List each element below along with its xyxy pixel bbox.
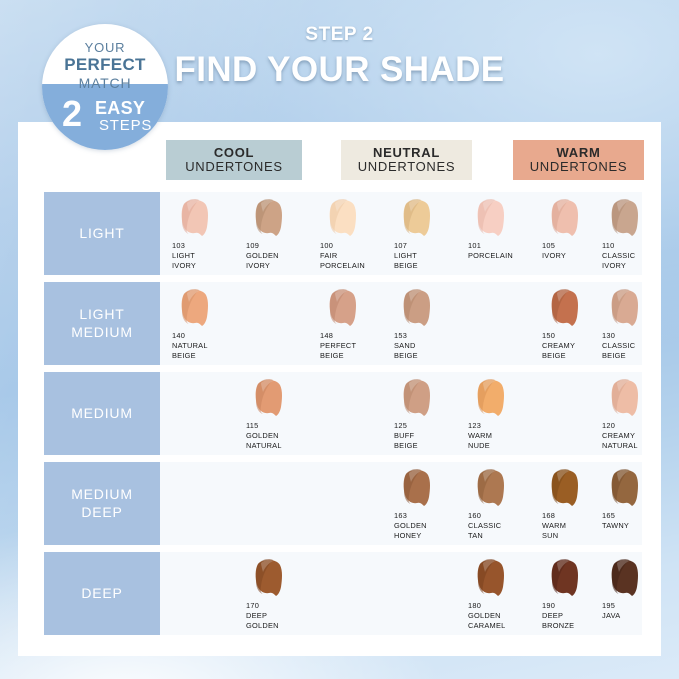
badge-your-label: YOUR <box>42 40 168 55</box>
shade-row: DEEP170 DEEP GOLDEN180 GOLDEN CARAMEL190… <box>18 552 661 635</box>
row-label-light-medium: LIGHT MEDIUM <box>44 282 160 365</box>
shade-cell-140[interactable]: 140 NATURAL BEIGE <box>168 282 238 365</box>
column-header-neutral: NEUTRAL UNDERTONES <box>341 140 472 180</box>
shade-row: LIGHT103 LIGHT IVORY109 GOLDEN IVORY100 … <box>18 192 661 275</box>
foundation-smear-icon <box>470 197 514 241</box>
foundation-smear-icon <box>544 557 588 601</box>
shade-cell-110[interactable]: 110 CLASSIC IVORY <box>598 192 668 275</box>
shade-cell-170[interactable]: 170 DEEP GOLDEN <box>242 552 312 635</box>
foundation-smear-icon <box>248 197 292 241</box>
shade-cell-107[interactable]: 107 LIGHT BEIGE <box>390 192 460 275</box>
foundation-smear-icon <box>248 377 292 421</box>
foundation-smear-icon <box>604 557 648 601</box>
shade-cell-125[interactable]: 125 BUFF BEIGE <box>390 372 460 455</box>
shade-caption: 163 GOLDEN HONEY <box>394 511 472 540</box>
shade-cell-163[interactable]: 163 GOLDEN HONEY <box>390 462 460 545</box>
foundation-smear-icon <box>470 467 514 511</box>
shade-caption: 100 FAIR PORCELAIN <box>320 241 398 270</box>
shade-caption: 123 WARM NUDE <box>468 421 546 450</box>
foundation-smear-icon <box>544 287 588 331</box>
column-header-cool-subtitle: UNDERTONES <box>185 160 283 174</box>
shade-caption: 170 DEEP GOLDEN <box>246 601 324 630</box>
shade-caption: 153 SAND BEIGE <box>394 331 472 360</box>
foundation-smear-icon <box>470 557 514 601</box>
foundation-smear-icon <box>396 467 440 511</box>
row-label-medium-deep: MEDIUM DEEP <box>44 462 160 545</box>
shade-cell-123[interactable]: 123 WARM NUDE <box>464 372 534 455</box>
shade-cell-165[interactable]: 165 TAWNY <box>598 462 668 545</box>
row-label-deep: DEEP <box>44 552 160 635</box>
shade-row: LIGHT MEDIUM140 NATURAL BEIGE148 PERFECT… <box>18 282 661 365</box>
shade-cell-120[interactable]: 120 CREAMY NATURAL <box>598 372 668 455</box>
foundation-smear-icon <box>544 467 588 511</box>
foundation-smear-icon <box>396 377 440 421</box>
shade-chart-card: COOL UNDERTONES NEUTRAL UNDERTONES WARM … <box>18 122 661 656</box>
foundation-smear-icon <box>470 377 514 421</box>
foundation-smear-icon <box>604 467 648 511</box>
shade-cell-195[interactable]: 195 JAVA <box>598 552 668 635</box>
badge-perfect-label: PERFECT <box>42 55 168 75</box>
foundation-smear-icon <box>544 197 588 241</box>
column-header-warm-subtitle: UNDERTONES <box>530 160 628 174</box>
shade-caption: 109 GOLDEN IVORY <box>246 241 324 270</box>
shade-caption: 130 CLASSIC BEIGE <box>602 331 679 360</box>
shade-row: MEDIUM DEEP163 GOLDEN HONEY160 CLASSIC T… <box>18 462 661 545</box>
shade-caption: 160 CLASSIC TAN <box>468 511 546 540</box>
shade-cell-100[interactable]: 100 FAIR PORCELAIN <box>316 192 386 275</box>
foundation-smear-icon <box>322 197 366 241</box>
shade-caption: 148 PERFECT BEIGE <box>320 331 398 360</box>
shade-caption: 107 LIGHT BEIGE <box>394 241 472 270</box>
column-header-cool-title: COOL <box>214 146 254 160</box>
shade-cell-180[interactable]: 180 GOLDEN CARAMEL <box>464 552 534 635</box>
shade-cell-101[interactable]: 101 PORCELAIN <box>464 192 534 275</box>
shade-caption: 140 NATURAL BEIGE <box>172 331 250 360</box>
shade-cell-160[interactable]: 160 CLASSIC TAN <box>464 462 534 545</box>
shade-caption: 115 GOLDEN NATURAL <box>246 421 324 450</box>
shade-caption: 165 TAWNY <box>602 511 679 531</box>
badge-match-label: MATCH <box>42 75 168 91</box>
badge-text: YOUR PERFECT MATCH 2 EASY STEPS <box>42 24 168 150</box>
foundation-smear-icon <box>322 287 366 331</box>
shade-caption: 195 JAVA <box>602 601 679 621</box>
foundation-smear-icon <box>604 197 648 241</box>
foundation-smear-icon <box>396 197 440 241</box>
shade-caption: 110 CLASSIC IVORY <box>602 241 679 270</box>
shade-caption: 103 LIGHT IVORY <box>172 241 250 270</box>
foundation-smear-icon <box>174 287 218 331</box>
column-header-neutral-subtitle: UNDERTONES <box>358 160 456 174</box>
badge-easy-label: EASY <box>95 98 145 119</box>
shade-cell-103[interactable]: 103 LIGHT IVORY <box>168 192 238 275</box>
foundation-smear-icon <box>604 377 648 421</box>
shade-caption: 180 GOLDEN CARAMEL <box>468 601 546 630</box>
foundation-smear-icon <box>604 287 648 331</box>
shade-cell-115[interactable]: 115 GOLDEN NATURAL <box>242 372 312 455</box>
column-header-neutral-title: NEUTRAL <box>373 146 440 160</box>
shade-caption: 101 PORCELAIN <box>468 241 546 261</box>
shade-cell-109[interactable]: 109 GOLDEN IVORY <box>242 192 312 275</box>
shade-cell-130[interactable]: 130 CLASSIC BEIGE <box>598 282 668 365</box>
foundation-smear-icon <box>396 287 440 331</box>
shade-caption: 125 BUFF BEIGE <box>394 421 472 450</box>
perfect-match-badge: YOUR PERFECT MATCH 2 EASY STEPS <box>42 24 168 150</box>
column-header-warm: WARM UNDERTONES <box>513 140 644 180</box>
row-label-medium: MEDIUM <box>44 372 160 455</box>
shade-cell-153[interactable]: 153 SAND BEIGE <box>390 282 460 365</box>
shade-row: MEDIUM115 GOLDEN NATURAL125 BUFF BEIGE12… <box>18 372 661 455</box>
foundation-smear-icon <box>248 557 292 601</box>
row-label-light: LIGHT <box>44 192 160 275</box>
foundation-smear-icon <box>174 197 218 241</box>
column-header-warm-title: WARM <box>557 146 601 160</box>
column-header-cool: COOL UNDERTONES <box>166 140 302 180</box>
shade-caption: 120 CREAMY NATURAL <box>602 421 679 450</box>
badge-steps-label: STEPS <box>99 117 152 134</box>
badge-step-number: 2 <box>62 96 82 132</box>
shade-cell-148[interactable]: 148 PERFECT BEIGE <box>316 282 386 365</box>
